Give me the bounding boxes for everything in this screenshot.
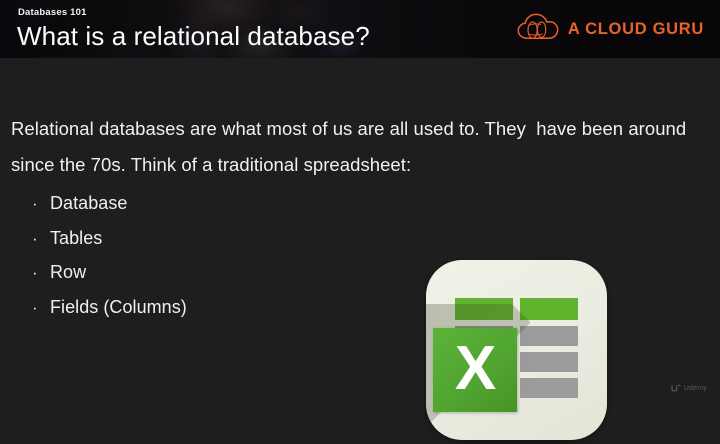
bullet-list: · Database · Tables · Row · Fields (Colu… xyxy=(32,193,187,331)
bullet-label: Fields (Columns) xyxy=(50,297,187,318)
bullet-dot-icon: · xyxy=(32,299,50,316)
bullet-label: Row xyxy=(50,262,86,283)
bullet-dot-icon: · xyxy=(32,230,50,247)
list-item: · Tables xyxy=(32,228,187,263)
course-badge-label: Databases 101 xyxy=(18,7,87,18)
spreadsheet-icon-card: X xyxy=(426,260,607,440)
bullet-label: Database xyxy=(50,193,127,214)
brand-name-label: A CLOUD GURU xyxy=(568,20,704,39)
paragraph-line-1: Relational databases are what most of us… xyxy=(11,118,686,140)
paragraph-line-2: since the 70s. Think of a traditional sp… xyxy=(11,154,411,176)
list-item: · Row xyxy=(32,262,187,297)
list-item: · Database xyxy=(32,193,187,228)
spreadsheet-header-cell xyxy=(520,298,578,320)
list-item: · Fields (Columns) xyxy=(32,297,187,332)
udemy-logo-icon xyxy=(671,379,681,397)
udemy-watermark-label: Udemy xyxy=(684,385,707,392)
slide-title: What is a relational database? xyxy=(17,21,370,52)
bullet-label: Tables xyxy=(50,228,102,249)
bullet-dot-icon: · xyxy=(32,264,50,281)
bullet-dot-icon: · xyxy=(32,195,50,212)
brand-logo: A CLOUD GURU xyxy=(517,13,704,45)
slide-header-banner: Databases 101 What is a relational datab… xyxy=(0,0,720,58)
udemy-watermark: Udemy xyxy=(671,379,707,397)
excel-x-letter: X xyxy=(455,338,495,400)
excel-x-badge: X xyxy=(433,328,517,412)
cloud-icon xyxy=(517,13,559,45)
slide-body: Relational databases are what most of us… xyxy=(0,58,720,405)
spreadsheet-icon: X xyxy=(420,256,613,444)
